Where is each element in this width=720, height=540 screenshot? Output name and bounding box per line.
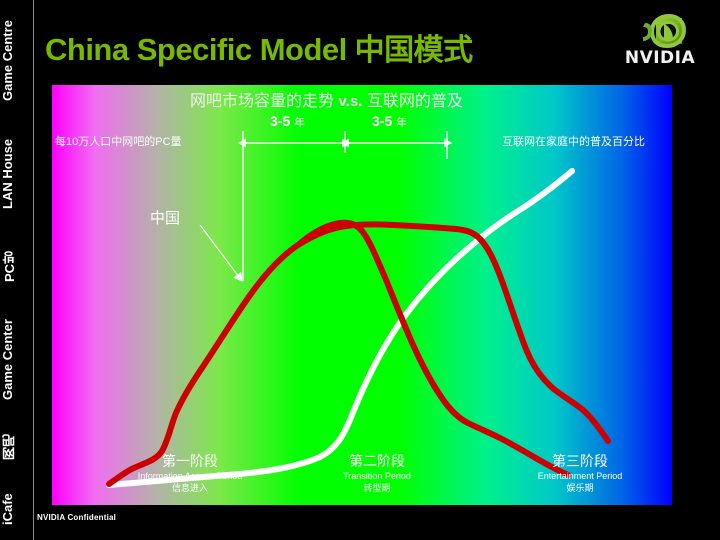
stage-2-en: Transition Period [297, 470, 457, 482]
y-axis-label-right: 互联网在家庭中的普及百分比 [502, 133, 645, 149]
stage-3-cn: 第三阶段 [500, 453, 660, 470]
stage-1-cn: 第一阶段 [110, 453, 270, 470]
span-tick-lines [243, 131, 447, 281]
stage-3-sub: 娱乐期 [500, 482, 660, 494]
sidebar-item-label: iCafe [0, 484, 15, 534]
page-title: China Specific Model 中国模式 [45, 25, 473, 69]
span-label-2-unit: 年 [396, 117, 407, 129]
stage-caption-3: 第三阶段 Entertainment Period 娱乐期 [500, 453, 660, 494]
stage-2-sub: 转型期 [297, 482, 457, 494]
sidebar-item-label: Game Centre [0, 6, 15, 116]
sidebar: Game Centre LAN House PC방 Game Center 网吧… [0, 0, 33, 540]
stage-1-sub: 信息进入 [110, 482, 270, 494]
page-title-en: China Specific Model [45, 32, 347, 67]
sidebar-item-label: 网吧 [0, 424, 19, 470]
sidebar-item-label: LAN House [0, 128, 15, 220]
sidebar-divider [33, 0, 34, 540]
sidebar-item-label: Game Center [0, 310, 15, 410]
stage-caption-2: 第二阶段 Transition Period 转型期 [297, 453, 457, 494]
confidential-footer: NVIDIA Confidential [37, 513, 116, 522]
stage-3-en: Entertainment Period [500, 470, 660, 482]
span-label-2: 3-5 年 [372, 113, 407, 130]
span-label-1-unit: 年 [294, 117, 305, 129]
span-label-2-number: 3-5 [372, 113, 392, 129]
stage-1-en: Information Access Period [110, 470, 270, 482]
annotation-leader-line [200, 225, 242, 281]
chart-title-part-2: 互联网的普及 [367, 93, 463, 110]
span-label-1: 3-5 年 [270, 113, 305, 130]
chart-area: 网吧市场容量的走势 v.s. 互联网的普及 3-5 年 3-5 年 每10万人口… [52, 85, 672, 505]
slide-canvas: Game Centre LAN House PC방 Game Center 网吧… [0, 0, 720, 540]
page-title-cn: 中国模式 [347, 34, 473, 67]
chart-title: 网吧市场容量的走势 v.s. 互联网的普及 [190, 87, 463, 111]
span-label-1-number: 3-5 [270, 113, 290, 129]
sidebar-item-icafe[interactable]: iCafe [0, 484, 33, 534]
sidebar-item-label: PC방 [0, 238, 19, 294]
nvidia-logo: NVIDIA [612, 14, 708, 70]
nvidia-wordmark: NVIDIA [612, 48, 708, 68]
sidebar-item-lan-house[interactable]: LAN House [0, 128, 33, 220]
series-cafe-capacity-upper-line [109, 224, 608, 484]
y-axis-label-left: 每10万人口中网吧的PC量 [55, 133, 182, 149]
stage-caption-1: 第一阶段 Information Access Period 信息进入 [110, 453, 270, 494]
sidebar-item-pc-bang[interactable]: PC방 [0, 238, 33, 294]
sidebar-item-game-center[interactable]: Game Center [0, 310, 33, 410]
china-annotation: 中国 [150, 207, 180, 228]
chart-title-part-1: 网吧市场容量的走势 [190, 93, 334, 110]
chart-title-vs: v.s. [338, 93, 362, 110]
sidebar-item-wangba[interactable]: 网吧 [0, 424, 33, 470]
stage-2-cn: 第二阶段 [297, 453, 457, 470]
nvidia-eye-icon [612, 14, 708, 50]
sidebar-item-game-centre[interactable]: Game Centre [0, 6, 33, 116]
